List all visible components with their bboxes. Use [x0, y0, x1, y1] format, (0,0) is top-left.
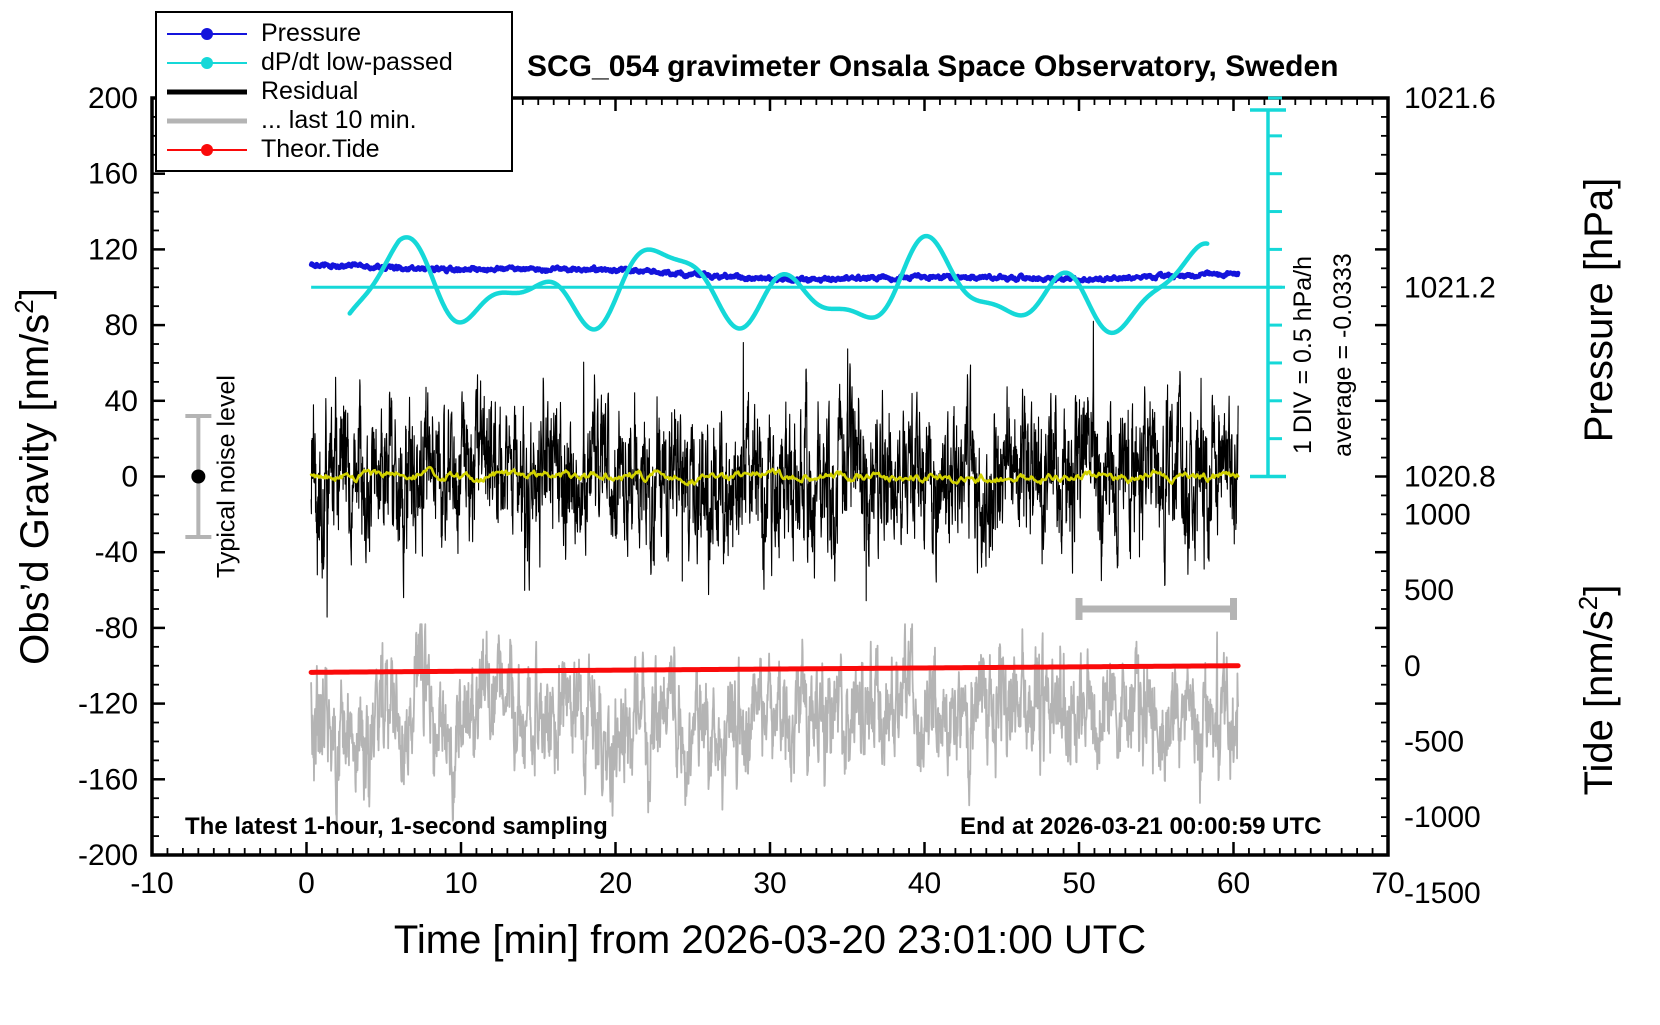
x-tick-label: 60	[1217, 867, 1250, 900]
theor-tide-series	[311, 666, 1238, 673]
x-tick-label: 70	[1371, 867, 1404, 900]
dpdt-series	[350, 236, 1207, 333]
tide-tick-label: 500	[1404, 574, 1454, 607]
y-tick-label: 0	[121, 461, 138, 494]
y-axis-title: Obs’d Gravity [nm/s2]	[9, 288, 57, 665]
div-scale-label: 1 DIV = 0.5 hPa/h	[1289, 256, 1317, 454]
legend-swatch-icon	[167, 110, 247, 132]
y-tick-label: 40	[105, 385, 138, 418]
tide-tick-label: 0	[1404, 650, 1421, 683]
page-title: SCG_054 gravimeter Onsala Space Observat…	[527, 50, 1339, 84]
pressure-axis-title: Pressure [hPa]	[1577, 178, 1621, 443]
y-tick-label: -120	[78, 688, 138, 721]
note-end-time: End at 2026-03-21 00:00:59 UTC	[960, 813, 1322, 841]
legend-swatch-icon	[167, 52, 247, 74]
legend-label: Pressure	[261, 19, 361, 48]
y-tick-label: 120	[88, 233, 138, 266]
y-tick-label: -40	[95, 536, 138, 569]
note-sampling: The latest 1-hour, 1-second sampling	[185, 813, 608, 841]
legend-label: dP/dt low-passed	[261, 48, 453, 77]
pressure-tick-label: 1020.8	[1404, 461, 1496, 494]
x-tick-label: 20	[599, 867, 632, 900]
y-tick-label: -80	[95, 612, 138, 645]
legend-swatch-icon	[167, 23, 247, 45]
tide-tick-label: -500	[1404, 725, 1464, 758]
x-tick-label: 30	[753, 867, 786, 900]
y-tick-label: 160	[88, 158, 138, 191]
legend-marker-dot-icon	[201, 144, 213, 156]
pressure-tick-label: 1021.6	[1404, 82, 1496, 115]
legend-item-3[interactable]: ... last 10 min.	[167, 106, 501, 135]
legend-item-0[interactable]: Pressure	[167, 19, 501, 48]
y-tick-label: 200	[88, 82, 138, 115]
average-label: average = -0.0333	[1329, 253, 1357, 457]
legend-marker-dot-icon	[201, 28, 213, 40]
y-tick-label: -200	[78, 839, 138, 872]
pressure-tick-label: 1021.2	[1404, 271, 1496, 304]
noise-level-label: Typical noise level	[212, 375, 240, 578]
x-tick-label: 50	[1062, 867, 1095, 900]
legend-label: Theor.Tide	[261, 135, 380, 164]
last10-series	[311, 624, 1238, 825]
y-tick-label: -160	[78, 763, 138, 796]
legend-marker-dot-icon	[201, 57, 213, 69]
tide-tick-label: 1000	[1404, 498, 1471, 531]
legend-swatch-icon	[167, 139, 247, 161]
legend: PressuredP/dt low-passedResidual... last…	[155, 11, 513, 172]
legend-line	[167, 89, 247, 94]
x-tick-label: 10	[444, 867, 477, 900]
legend-item-4[interactable]: Theor.Tide	[167, 135, 501, 164]
tide-tick-label: -1000	[1404, 801, 1481, 834]
tide-tick-label: -1500	[1404, 877, 1481, 910]
x-axis-title: Time [min] from 2026-03-20 23:01:00 UTC	[394, 918, 1146, 962]
x-tick-label: 40	[908, 867, 941, 900]
legend-item-1[interactable]: dP/dt low-passed	[167, 48, 501, 77]
legend-label: Residual	[261, 77, 358, 106]
legend-swatch-icon	[167, 81, 247, 103]
y-tick-label: 80	[105, 309, 138, 342]
tide-axis-title: Tide [nm/s2]	[1573, 585, 1621, 796]
legend-line	[167, 118, 247, 123]
residual-series	[311, 321, 1238, 617]
noise-center-dot-icon	[191, 470, 205, 484]
x-tick-label: 0	[298, 867, 315, 900]
legend-label: ... last 10 min.	[261, 106, 417, 135]
legend-item-2[interactable]: Residual	[167, 77, 501, 106]
